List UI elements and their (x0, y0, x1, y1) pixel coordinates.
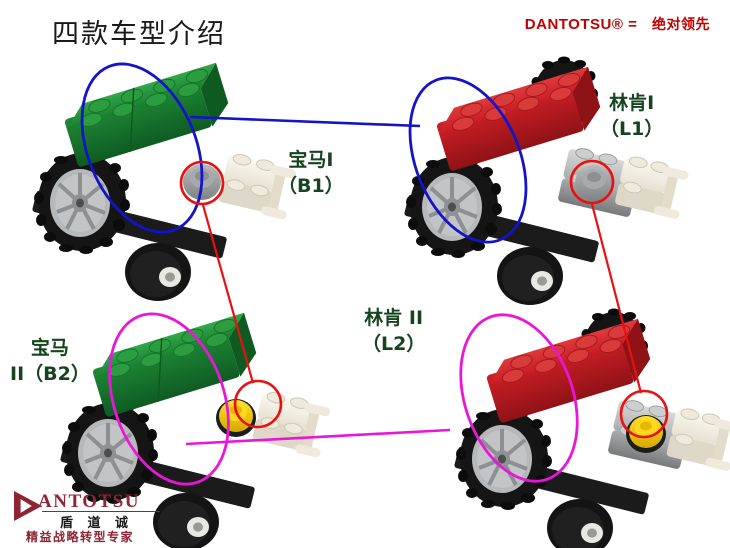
red-circle-l1-axle (571, 161, 613, 203)
label-b2-line2: II（B2） (10, 362, 90, 388)
page-title: 四款车型介绍 (52, 12, 226, 51)
label-b1-line1: 宝马I (288, 149, 333, 171)
logo-tagline: 精益战略转型专家 (26, 528, 134, 545)
brand-name: DANTOTSU® (525, 16, 624, 33)
brand-equals: = (628, 16, 637, 33)
annotation-overlay (0, 0, 730, 548)
label-l2-line1: 林肯 II (364, 307, 423, 329)
label-b1: 宝马I （B1） (278, 148, 344, 199)
label-b2: 宝马 II（B2） (10, 336, 90, 387)
label-b1-line2: （B1） (278, 174, 344, 200)
label-l2-line2: （L2） (362, 332, 425, 358)
label-l1-line1: 林肯I (609, 92, 654, 114)
red-circle-l2-yellow (621, 391, 667, 437)
label-l1: 林肯I （L1） (600, 91, 663, 142)
red-circle-b2-yellow (235, 381, 281, 427)
blue-ellipse-b1 (59, 46, 225, 250)
magenta-ellipse-l2 (440, 299, 598, 497)
red-link-right (592, 204, 641, 393)
magenta-ellipse-b2 (88, 298, 249, 500)
blue-ellipse-l1 (388, 61, 549, 259)
company-logo: ANTOTSU 盾 道 诚 精益战略转型专家 (12, 487, 162, 543)
brand-meaning: 绝对领先 (652, 16, 710, 32)
brand-tagline: DANTOTSU® = 绝对领先 (525, 14, 710, 34)
label-l1-line2: （L1） (600, 117, 663, 143)
label-b2-line1: 宝马 (31, 337, 69, 359)
label-l2: 林肯 II （L2） (362, 306, 425, 357)
blue-link-top (190, 117, 420, 126)
logo-wordmark: ANTOTSU (38, 491, 140, 513)
slide-canvas: 四款车型介绍 DANTOTSU® = 绝对领先 宝马I （B1） 林肯I （L1… (0, 0, 730, 548)
